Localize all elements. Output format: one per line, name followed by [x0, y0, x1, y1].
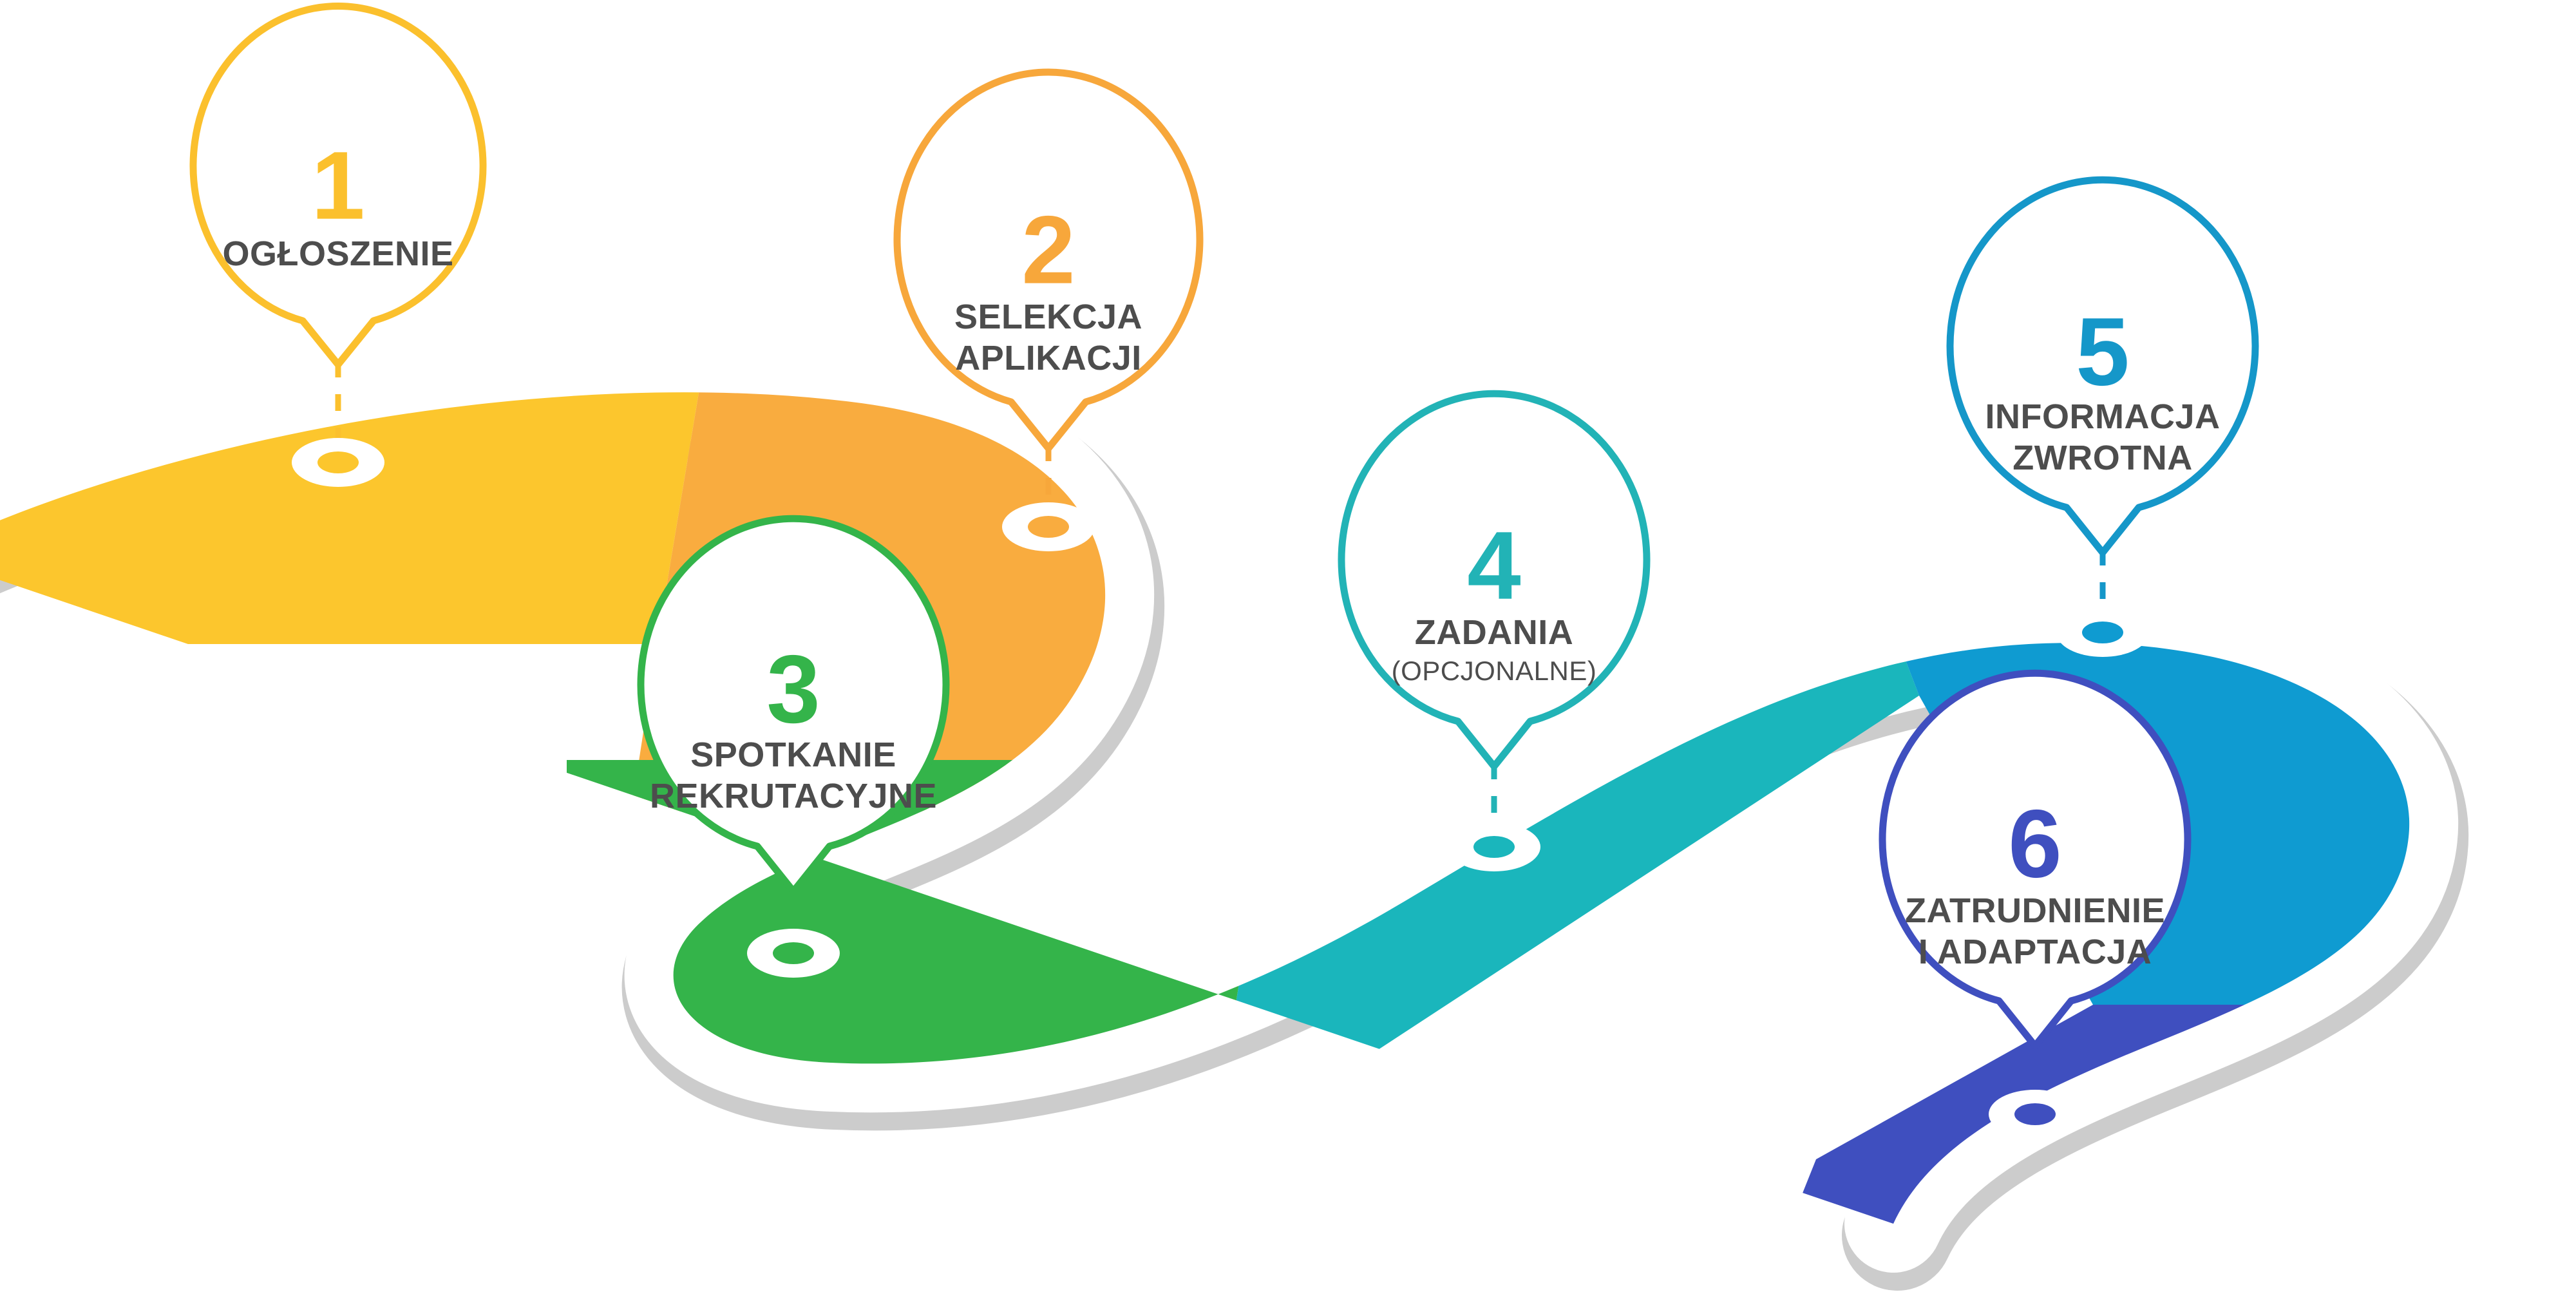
pin-label-2-line2: APLIKACJI	[955, 339, 1142, 377]
pin-number-3: 3	[766, 635, 820, 743]
road-marker-inner-2	[1028, 516, 1069, 538]
pin-label-5-line2: ZWROTNA	[2012, 439, 2192, 477]
pin-number-2: 2	[1021, 196, 1075, 304]
step-pin-5[interactable]: 5 INFORMACJA ZWROTNA	[1950, 180, 2255, 657]
road-marker-inner-3	[773, 942, 814, 964]
pin-label-1-line1: OGŁOSZENIE	[222, 234, 453, 273]
road-marker-inner-6	[2014, 1103, 2056, 1125]
pin-label-3-line1: SPOTKANIE	[690, 736, 896, 774]
pin-label-4-line2: (OPCJONALNE)	[1392, 656, 1597, 686]
pin-label-5-line1: INFORMACJA	[1985, 397, 2221, 436]
pin-label-6-line1: ZATRUDNIENIE	[1905, 891, 2165, 930]
pin-label-2-line1: SELEKCJA	[954, 298, 1142, 336]
pin-label-4-line1: ZADANIA	[1415, 613, 1573, 652]
recruitment-roadmap-svg: 1 OGŁOSZENIE 2 SELEKCJA APLIKACJI 3	[0, 0, 2576, 1310]
road-marker-inner-5	[2082, 622, 2123, 643]
pin-label-3-line2: REKRUTACYJNE	[650, 777, 937, 815]
pin-number-6: 6	[2008, 790, 2061, 898]
pin-label-6-line2: I ADAPTACJA	[1918, 933, 2152, 971]
pin-number-5: 5	[2076, 298, 2129, 406]
road-marker-inner-1	[317, 451, 359, 473]
pin-number-1: 1	[311, 131, 365, 240]
infographic-canvas: 1 OGŁOSZENIE 2 SELEKCJA APLIKACJI 3	[0, 0, 2576, 1310]
road-marker-inner-4	[1473, 836, 1515, 858]
pin-number-4: 4	[1467, 511, 1520, 620]
